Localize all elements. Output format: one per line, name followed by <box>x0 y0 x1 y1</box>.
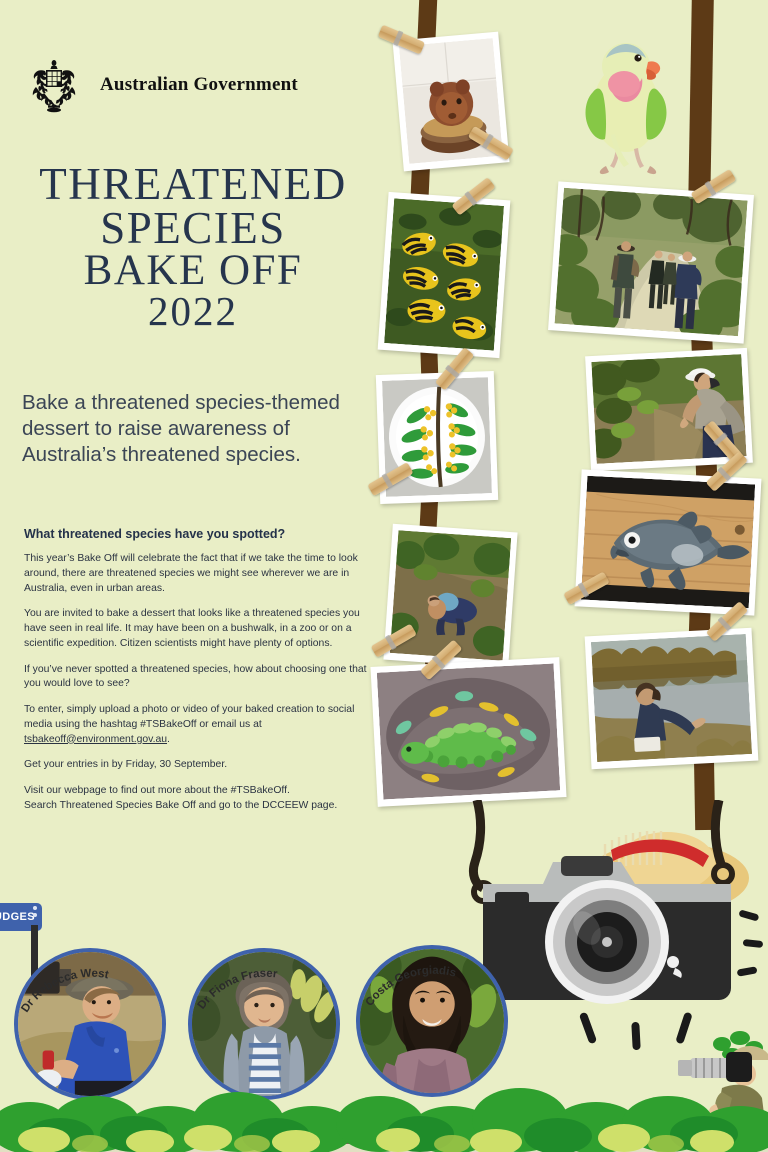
collage-photo <box>376 371 498 504</box>
collage-photo <box>392 32 509 172</box>
webpage-text: Visit our webpage to find out more about… <box>24 784 369 814</box>
government-wordmark: Australian Government <box>100 74 298 96</box>
webpage-line-2: Search Threatened Species Bake Off and g… <box>24 800 337 811</box>
title-line-4: 2022 <box>18 292 368 332</box>
body-paragraph-2: You are invited to bake a dessert that l… <box>24 607 369 651</box>
collage-photo <box>585 628 759 770</box>
sign-dots-icon <box>33 906 37 910</box>
enter-intro-text: To enter, simply upload a photo or video… <box>24 704 354 730</box>
wetland-observer-image <box>591 634 752 762</box>
email-link[interactable]: tsbakeoff@environment.gov.au <box>24 734 167 745</box>
collage-photo <box>585 348 753 471</box>
collage-photo <box>575 469 762 615</box>
collage-photo <box>548 181 754 343</box>
body-paragraph-3: If you’ve never spotted a threatened spe… <box>24 663 369 693</box>
princess-parrot-image <box>566 22 686 182</box>
body-copy: What threatened species have you spotted… <box>24 527 369 825</box>
coat-of-arms-icon <box>22 55 86 115</box>
lead-paragraph: Bake a threatened species-themed dessert… <box>22 390 372 469</box>
title-line-1: THREATENED <box>18 163 368 207</box>
webpage-line-1: Visit our webpage to find out more about… <box>24 785 290 796</box>
body-heading: What threatened species have you spotted… <box>24 527 369 541</box>
government-branding: Australian Government <box>22 55 298 115</box>
body-paragraph-enter: To enter, simply upload a photo or video… <box>24 703 369 747</box>
title-line-2: SPECIES <box>18 207 368 251</box>
enter-outro-text: . <box>167 734 170 745</box>
deadline-text: Get your entries in by Friday, 30 Septem… <box>24 758 369 773</box>
collage-photo <box>370 657 566 807</box>
poster: Australian Government THREATENED SPECIES… <box>0 0 768 1152</box>
judges-sign-label: JUDGES <box>0 911 35 923</box>
fish-cake-on-board-image <box>581 476 755 609</box>
poster-title: THREATENED SPECIES BAKE OFF 2022 <box>18 163 368 332</box>
bushwalk-group-image <box>555 188 748 337</box>
collage-photo <box>378 192 511 358</box>
body-paragraph-1: This year’s Bake Off will celebrate the … <box>24 552 369 596</box>
foliage-decoration <box>0 1032 768 1152</box>
title-line-3: BAKE OFF <box>18 250 368 292</box>
lizard-cake-image <box>377 663 560 799</box>
corroboree-frog-cakes-image <box>384 198 504 350</box>
